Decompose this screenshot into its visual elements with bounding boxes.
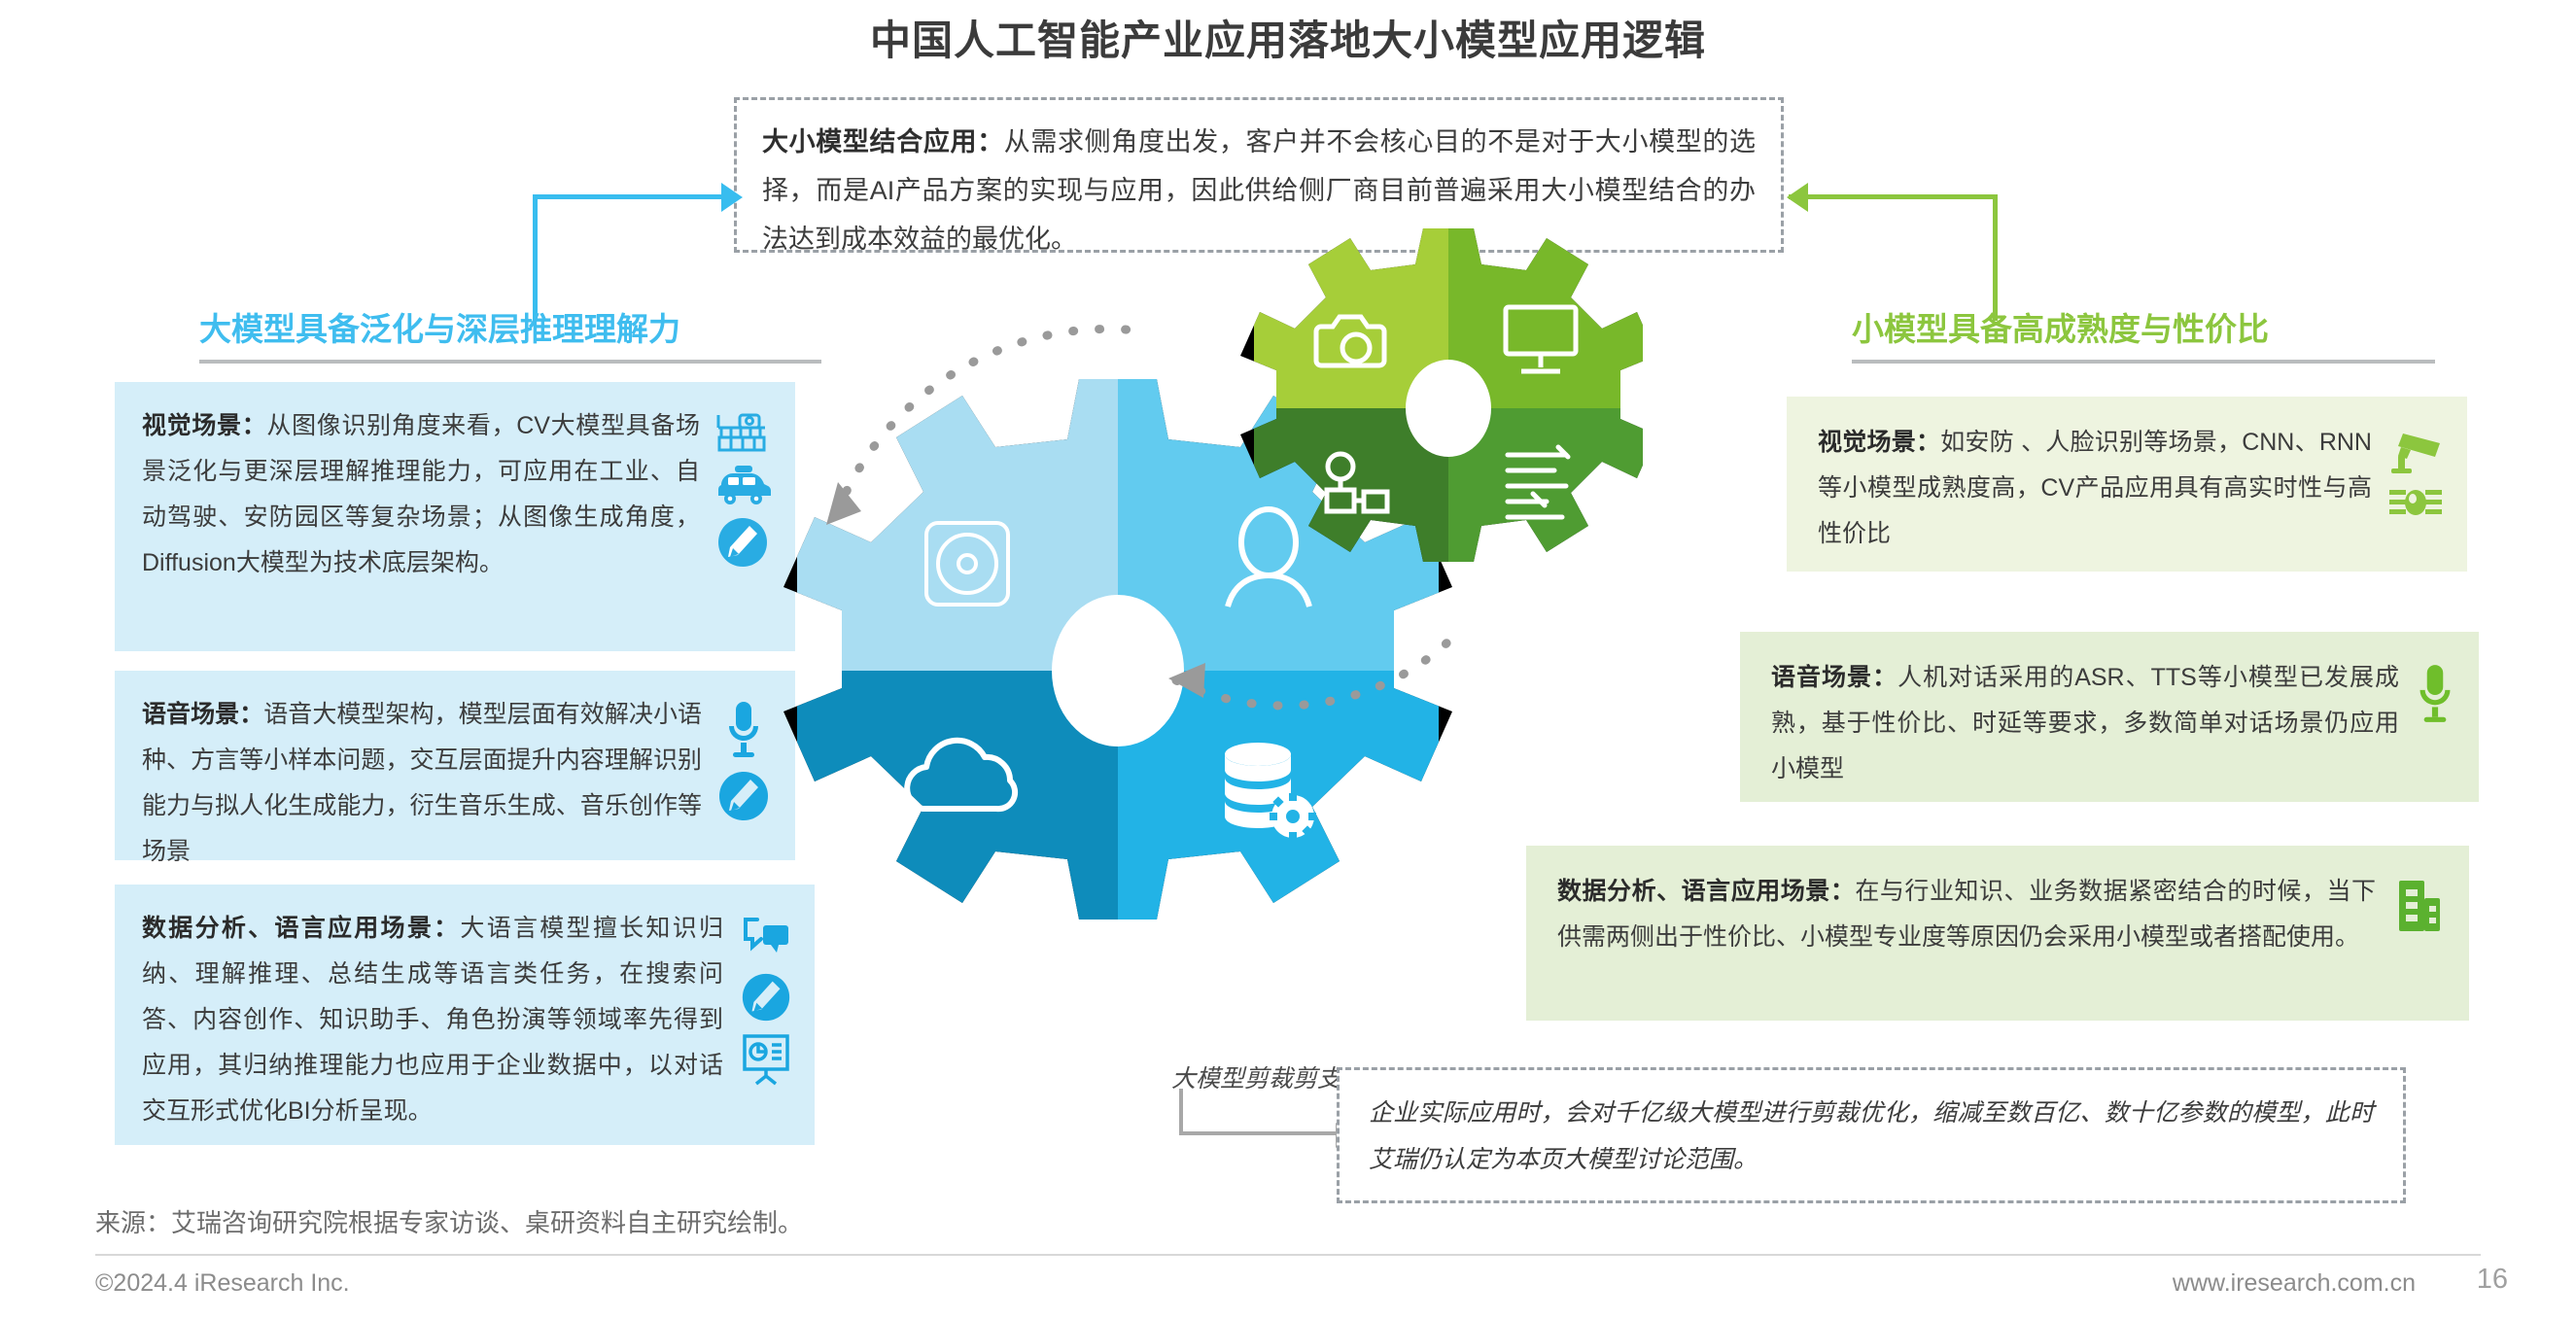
left-card-data-language-body: 大语言模型擅长知识归纳、理解推理、总结生成等语言类任务，在搜索问答、内容创作、知… xyxy=(142,915,723,1125)
left-card-speech-text: 语音场景：语音大模型架构，模型层面有效解决小语种、方言等小样本问题，交互层面提升… xyxy=(142,692,702,875)
right-card-vision-icons xyxy=(2385,420,2446,523)
left-card-vision-icons xyxy=(714,403,772,571)
page-number: 16 xyxy=(2477,1264,2508,1296)
page-title: 中国人工智能产业应用落地大小模型应用逻辑 xyxy=(0,8,2576,67)
prune-connector xyxy=(1179,1089,1340,1135)
face-recognition-icon xyxy=(2385,482,2446,523)
connector-left-elbow xyxy=(533,194,723,321)
small-gear-hub xyxy=(1406,360,1491,457)
car-icon xyxy=(714,464,772,506)
infographic-canvas: 中国人工智能产业应用落地大小模型应用逻辑 大小模型结合应用：从需求侧角度出发，客… xyxy=(0,0,2576,1319)
cctv-camera-icon xyxy=(2385,428,2446,474)
top-callout-lead: 大小模型结合应用： xyxy=(762,127,1004,156)
source-note: 来源：艾瑞咨询研究院根据专家访谈、桌研资料自主研究绘制。 xyxy=(95,1203,803,1239)
left-card-data-language-lead: 数据分析、语言应用场景： xyxy=(142,915,460,942)
factory-icon xyxy=(714,411,771,456)
connector-left-arrowhead-icon xyxy=(721,183,743,212)
right-card-vision: 视觉场景：如安防 、人脸识别等场景，CNN、RNN等小模型成熟度高，CV产品应用… xyxy=(1787,397,2467,572)
left-card-data-language: 数据分析、语言应用场景：大语言模型擅长知识归纳、理解推理、总结生成等语言类任务，… xyxy=(115,885,815,1145)
right-card-data-language: 数据分析、语言应用场景：在与行业知识、业务数据紧密结合的时候，当下供需两侧出于性… xyxy=(1526,846,2469,1021)
left-card-vision-lead: 视觉场景： xyxy=(142,412,266,439)
paint-drop-icon xyxy=(714,514,771,571)
right-card-speech-icons xyxy=(2413,655,2457,725)
right-card-speech: 语音场景：人机对话采用的ASR、TTS等小模型已发展成熟，基于性价比、时延等要求… xyxy=(1740,632,2479,802)
microphone-icon xyxy=(722,700,765,760)
right-card-vision-lead: 视觉场景： xyxy=(1818,429,1940,456)
gear-diagram xyxy=(768,224,1643,1079)
paint-drop-icon xyxy=(715,768,772,824)
website-url: www.iresearch.com.cn xyxy=(2173,1269,2416,1298)
big-gear-hub xyxy=(1052,595,1184,746)
left-heading-rule xyxy=(199,360,821,364)
footer-divider xyxy=(95,1254,2481,1256)
building-icon xyxy=(2389,877,2448,935)
right-card-speech-lead: 语音场景： xyxy=(1771,664,1897,691)
left-card-data-language-text: 数据分析、语言应用场景：大语言模型擅长知识归纳、理解推理、总结生成等语言类任务，… xyxy=(142,906,723,1134)
gear-diagram-svg xyxy=(768,224,1643,1079)
right-section-heading: 小模型具备高成熟度与性价比 xyxy=(1852,303,2435,364)
right-section-heading-text: 小模型具备高成熟度与性价比 xyxy=(1852,311,2269,347)
bottom-note-box: 企业实际应用时，会对千亿级大模型进行剪裁优化，缩减至数百亿、数十亿参数的模型，此… xyxy=(1337,1067,2406,1203)
copyright-text: ©2024.4 iResearch Inc. xyxy=(95,1269,350,1298)
right-card-vision-text: 视觉场景：如安防 、人脸识别等场景，CNN、RNN等小模型成熟度高，CV产品应用… xyxy=(1818,420,2372,557)
left-section-heading: 大模型具备泛化与深层推理理解力 xyxy=(199,303,821,364)
right-heading-rule xyxy=(1852,360,2435,364)
left-card-speech: 语音场景：语音大模型架构，模型层面有效解决小语种、方言等小样本问题，交互层面提升… xyxy=(115,671,795,860)
left-section-heading-text: 大模型具备泛化与深层推理理解力 xyxy=(199,311,680,347)
bottom-note-text: 企业实际应用时，会对千亿级大模型进行剪裁优化，缩减至数百亿、数十亿参数的模型，此… xyxy=(1369,1090,2374,1183)
right-card-speech-text: 语音场景：人机对话采用的ASR、TTS等小模型已发展成熟，基于性价比、时延等要求… xyxy=(1771,655,2399,792)
connector-right-elbow xyxy=(1789,194,1998,321)
right-card-data-language-text: 数据分析、语言应用场景：在与行业知识、业务数据紧密结合的时候，当下供需两侧出于性… xyxy=(1557,869,2376,960)
right-card-data-language-icons xyxy=(2389,869,2448,935)
left-card-speech-icons xyxy=(715,692,772,824)
left-card-vision: 视觉场景：从图像识别角度来看，CV大模型具备场景泛化与更深层理解推理能力，可应用… xyxy=(115,382,795,651)
left-card-vision-text: 视觉场景：从图像识别角度来看，CV大模型具备场景泛化与更深层理解推理能力，可应用… xyxy=(142,403,700,586)
left-card-speech-lead: 语音场景： xyxy=(142,701,263,728)
microphone-icon xyxy=(2413,663,2457,725)
connector-right-arrowhead-icon xyxy=(1787,183,1808,212)
